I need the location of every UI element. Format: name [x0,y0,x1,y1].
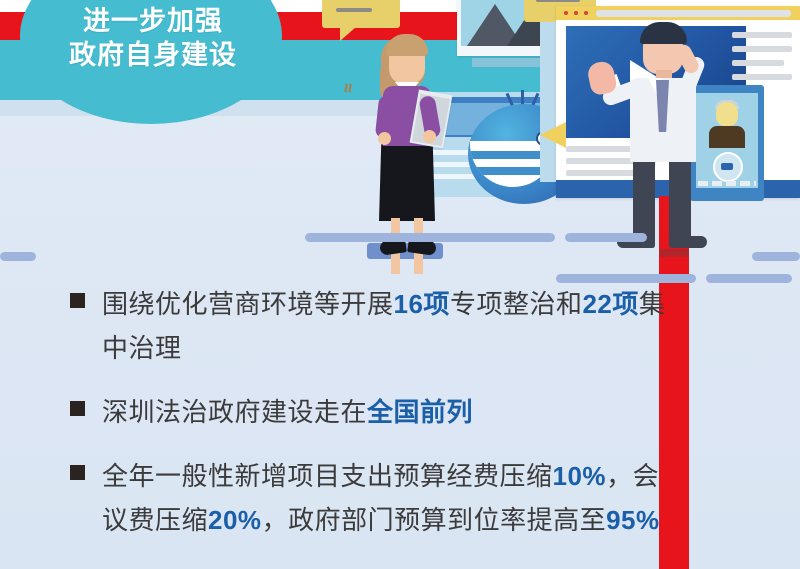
bullet-marker-icon [70,293,85,308]
bullet-marker-icon [70,401,85,416]
body-text: 专项整治和 [450,289,583,319]
page-title: 进一步加强 政府自身建设 [38,4,268,72]
tablet-button-row[interactable] [698,181,756,186]
bullet-list: 围绕优化营商环境等开展16项专项整治和22项集中治理深圳法治政府建设走在全国前列… [70,282,670,562]
content-line [732,32,792,38]
man-leg [669,158,691,244]
camera-icon[interactable] [713,152,743,182]
red-stripe-shadow [659,249,689,257]
highlighted-value: 95% [606,505,660,535]
floor-bar [305,233,555,242]
list-item-text: 围绕优化营商环境等开展16项专项整治和22项集中治理 [102,282,670,370]
window-minimize-icon[interactable] [574,11,578,15]
highlighted-value: 10% [553,461,607,491]
address-bar[interactable] [596,10,791,17]
window-maximize-icon[interactable] [584,11,588,15]
content-line [566,170,640,176]
man-shoe [669,236,707,248]
speech-bubble [322,0,400,28]
list-item: 深圳法治政府建设走在全国前列 [70,390,670,434]
floor-bar [706,274,792,283]
bullet-marker-icon [70,465,85,480]
page-title-line-1: 进一步加强 [38,4,268,38]
content-line [732,74,792,80]
avatar [716,102,738,126]
browser-titlebar [556,6,800,20]
highlighted-value: 22项 [582,289,638,319]
floor-bar [565,233,647,242]
man-leg [633,158,655,244]
woman-skirt [379,143,435,221]
bubble-line [536,0,580,2]
woman-hand [378,132,391,145]
highlighted-value: 20% [208,505,262,535]
list-item-text: 深圳法治政府建设走在全国前列 [102,390,473,434]
list-item-text: 全年一般性新增项目支出预算经费压缩10%，会议费压缩20%，政府部门预算到位率提… [102,454,670,542]
list-item: 围绕优化营商环境等开展16项专项整治和22项集中治理 [70,282,670,370]
content-line [732,60,784,66]
woman-hand [423,130,436,143]
window-close-icon[interactable] [564,11,568,15]
page-title-line-2: 政府自身建设 [38,38,268,72]
floor-bar [0,252,36,261]
body-text: 全年一般性新增项目支出预算经费压缩 [102,461,553,491]
body-text: 深圳法治政府建设走在 [102,397,367,427]
avatar-body [709,126,745,148]
infographic-poster: ≈ 进一步加强 政府自身建设 围绕优化营商环境等开展16项专项 [0,0,800,569]
content-line [566,146,632,152]
bubble-line [336,8,372,12]
body-text: 围绕优化营商环境等开展 [102,289,394,319]
floor-bar [752,252,800,261]
squiggle-icon: ≈ [338,83,358,92]
list-item: 全年一般性新增项目支出预算经费压缩10%，会议费压缩20%，政府部门预算到位率提… [70,454,670,542]
yellow-arrow-icon [540,122,566,148]
highlighted-value: 全国前列 [367,397,473,427]
highlighted-value: 16项 [394,289,450,319]
body-text: ，政府部门预算到位率提高至 [262,505,607,535]
content-line [732,46,792,52]
